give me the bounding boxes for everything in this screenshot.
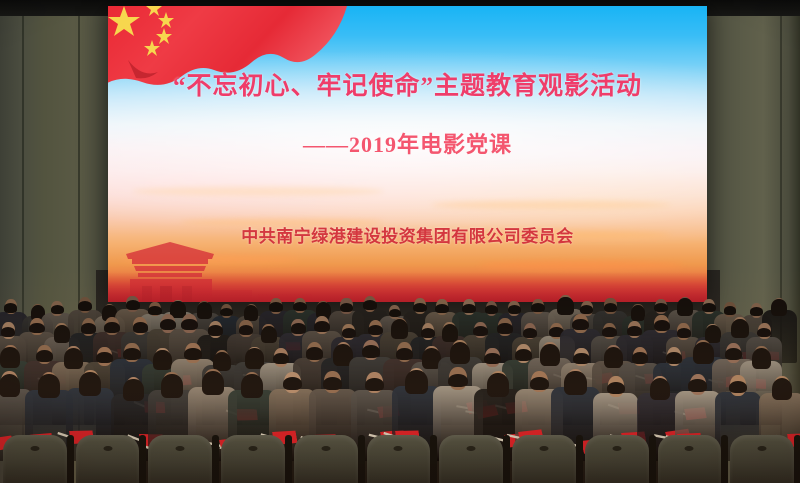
person-hair — [323, 377, 342, 390]
person-hair — [729, 381, 747, 394]
person-hair — [462, 304, 476, 313]
person-hair — [365, 378, 384, 391]
cinema-seat — [439, 435, 503, 483]
person-hair — [607, 382, 625, 394]
cinema-seat — [512, 435, 576, 483]
person-hair — [1, 327, 16, 337]
person-hair — [362, 345, 380, 357]
person-hair — [202, 371, 224, 395]
person-hair — [314, 321, 330, 332]
person-hair — [531, 303, 545, 312]
seat-notch — [467, 446, 476, 451]
cloud-streak — [132, 187, 384, 196]
person-hair — [497, 323, 512, 334]
seat-notch — [321, 446, 330, 451]
person-hair — [123, 379, 143, 401]
cinema-seat — [367, 435, 431, 483]
seat-gap — [794, 435, 800, 483]
seat-gap — [212, 435, 219, 483]
seat-notch — [394, 446, 403, 451]
person-hair — [363, 300, 377, 310]
cinema-seat — [585, 435, 649, 483]
seat-gap — [503, 435, 510, 483]
cinema-seat-row — [0, 421, 800, 483]
person-hair — [38, 374, 59, 397]
auditorium-group-photo: “不忘初心、牢记使命”主题教育观影活动 ——2019年电影党课 中共南宁绿港建设… — [0, 0, 800, 483]
seat-gap — [576, 435, 583, 483]
person-hair — [632, 352, 649, 363]
projection-screen: “不忘初心、牢记使命”主题教育观影活动 ——2019年电影党课 中共南宁绿港建设… — [108, 6, 707, 302]
person-hair — [405, 370, 427, 395]
seat-gap — [721, 435, 728, 483]
person-hair — [133, 322, 149, 333]
person-hair — [79, 372, 101, 396]
seat-notch — [685, 446, 694, 451]
cinema-seat — [221, 435, 285, 483]
person-hair — [688, 379, 707, 392]
person-hair — [572, 319, 588, 330]
seat-notch — [103, 446, 112, 451]
person-hair — [448, 374, 468, 388]
seat-gap — [139, 435, 146, 483]
person-hair — [602, 327, 616, 337]
slide-organization-line: 中共南宁绿港建设投资集团有限公司委员会 — [108, 222, 707, 247]
person-hair — [123, 348, 140, 360]
seat-gap — [358, 435, 365, 483]
cinema-seat — [76, 435, 140, 483]
cinema-seat — [148, 435, 212, 483]
cinema-seat — [294, 435, 358, 483]
person-hair — [650, 378, 671, 401]
seat-notch — [758, 446, 767, 451]
person-hair — [283, 377, 302, 390]
cinema-seat — [658, 435, 722, 483]
person-hair — [771, 299, 787, 316]
person-hair — [530, 377, 549, 390]
seat-notch — [539, 446, 548, 451]
person-hair — [104, 322, 120, 333]
person-hair — [269, 302, 283, 311]
person-hair — [78, 301, 92, 311]
person-hair — [564, 371, 586, 395]
seat-notch — [249, 446, 258, 451]
person-hair — [184, 348, 201, 360]
person-hair — [181, 319, 197, 330]
seat-notch — [612, 446, 621, 451]
person-hair — [4, 303, 18, 312]
person-hair — [487, 373, 509, 397]
person-hair — [752, 348, 771, 369]
person-hair — [627, 326, 642, 336]
person-hair — [0, 374, 20, 398]
person-hair — [604, 303, 618, 312]
slide-title-main: “不忘初心、牢记使命”主题教育观影活动 — [108, 66, 707, 102]
seat-gap — [430, 435, 437, 483]
person-hair — [36, 350, 53, 362]
seat-gap — [649, 435, 656, 483]
person-hair — [757, 328, 771, 338]
seat-notch — [176, 446, 185, 451]
seat-gap — [67, 435, 74, 483]
seat-gap — [285, 435, 292, 483]
person-hair — [693, 342, 713, 365]
person-hair — [241, 374, 262, 397]
person-hair — [29, 323, 45, 334]
cinema-seat — [3, 435, 67, 483]
seat-notch — [30, 446, 39, 451]
person-hair — [161, 374, 182, 398]
person-hair — [435, 304, 448, 313]
cinema-seat — [730, 435, 794, 483]
slide-title-sub: ——2019年电影党课 — [108, 127, 707, 159]
person-hair — [772, 378, 793, 401]
